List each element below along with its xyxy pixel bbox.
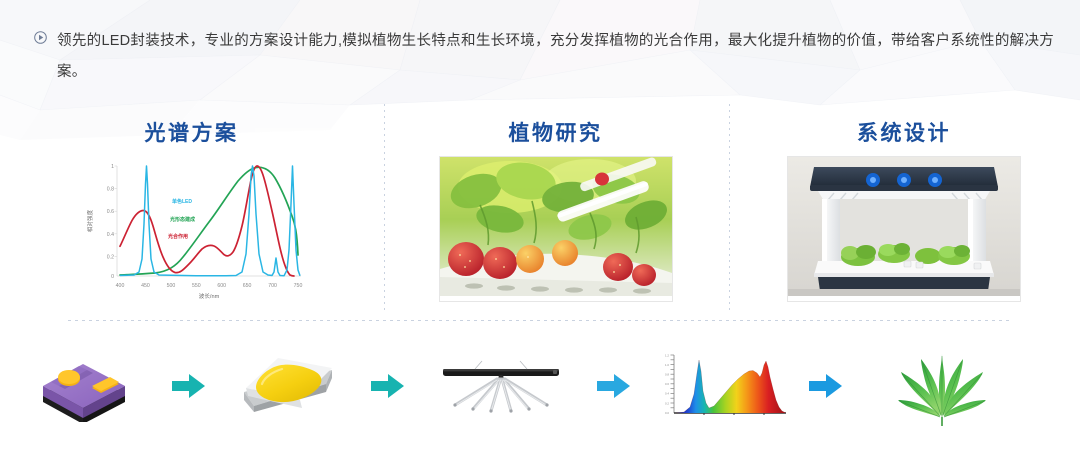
headline-text: 领先的LED封装技术，专业的方案设计能力,模拟植物生长特点和生长环境，充分发挥植… — [57, 26, 1054, 88]
circled-play-icon — [34, 31, 47, 49]
svg-text:0.8: 0.8 — [665, 373, 669, 377]
process-flow: 1.21.0 0.80.6 0.40.2 0.0 — [0, 334, 1080, 438]
flow-step-plant-leaf — [852, 346, 1032, 426]
svg-text:1: 1 — [111, 164, 114, 170]
flow-step-led-chip — [0, 350, 165, 422]
panel-title-system-design: 系统设计 — [857, 117, 951, 147]
svg-text:0.0: 0.0 — [665, 411, 669, 415]
svg-text:700: 700 — [268, 283, 277, 289]
panel-title-spectrum: 光谱方案 — [145, 117, 239, 147]
panel-row: 光谱方案 1 0.8 0.6 0.4 0.2 0 400 450 500 550 — [0, 104, 1080, 312]
flow-step-grow-light-bar — [413, 355, 588, 417]
svg-text:650: 650 — [242, 283, 251, 289]
arrow-right-icon-4 — [800, 373, 852, 399]
svg-text:相对强度: 相对强度 — [86, 209, 94, 232]
vertical-divider-2 — [729, 104, 730, 312]
arrow-right-icon-1 — [165, 373, 213, 399]
vertical-divider-1 — [384, 104, 385, 312]
legend-photomorphogenesis: 光形态建成 — [169, 216, 195, 223]
flow-step-spectrum-curve: 1.21.0 0.80.6 0.40.2 0.0 — [640, 349, 800, 423]
svg-text:0.6: 0.6 — [665, 382, 669, 386]
svg-text:400: 400 — [115, 283, 124, 289]
svg-text:0.4: 0.4 — [665, 392, 669, 396]
svg-text:0.8: 0.8 — [106, 187, 113, 193]
panel-system-design: 系统设计 — [728, 104, 1080, 312]
panel-spectrum: 光谱方案 1 0.8 0.6 0.4 0.2 0 400 450 500 550 — [0, 104, 383, 312]
svg-text:0.6: 0.6 — [106, 209, 113, 215]
svg-text:1.2: 1.2 — [665, 353, 669, 357]
svg-text:550: 550 — [191, 283, 200, 289]
spectrum-chart: 1 0.8 0.6 0.4 0.2 0 400 450 500 550 600 … — [76, 154, 308, 307]
system-design-photo — [787, 156, 1021, 302]
svg-text:1.0: 1.0 — [665, 363, 669, 367]
panel-title-plant-research: 植物研究 — [509, 117, 603, 147]
svg-text:450: 450 — [141, 283, 150, 289]
svg-text:600: 600 — [217, 283, 226, 289]
panel-plant-research: 植物研究 — [383, 104, 728, 312]
svg-text:750: 750 — [293, 283, 302, 289]
svg-text:0.2: 0.2 — [665, 401, 669, 405]
flow-step-smd-led — [213, 348, 363, 424]
arrow-right-icon-2 — [363, 373, 413, 399]
svg-text:波长/nm: 波长/nm — [198, 292, 219, 300]
legend-photosynthesis: 光合作用 — [167, 233, 188, 240]
svg-text:0.4: 0.4 — [106, 232, 113, 238]
legend-monochrome-led: 单色LED — [172, 198, 192, 205]
svg-text:0.2: 0.2 — [106, 254, 113, 260]
svg-text:500: 500 — [166, 283, 175, 289]
arrow-right-icon-3 — [588, 373, 640, 399]
horizontal-divider — [68, 320, 1012, 321]
plant-research-photo — [439, 156, 673, 302]
svg-text:0: 0 — [111, 274, 114, 280]
headline-block: 领先的LED封装技术，专业的方案设计能力,模拟植物生长特点和生长环境，充分发挥植… — [34, 26, 1054, 88]
